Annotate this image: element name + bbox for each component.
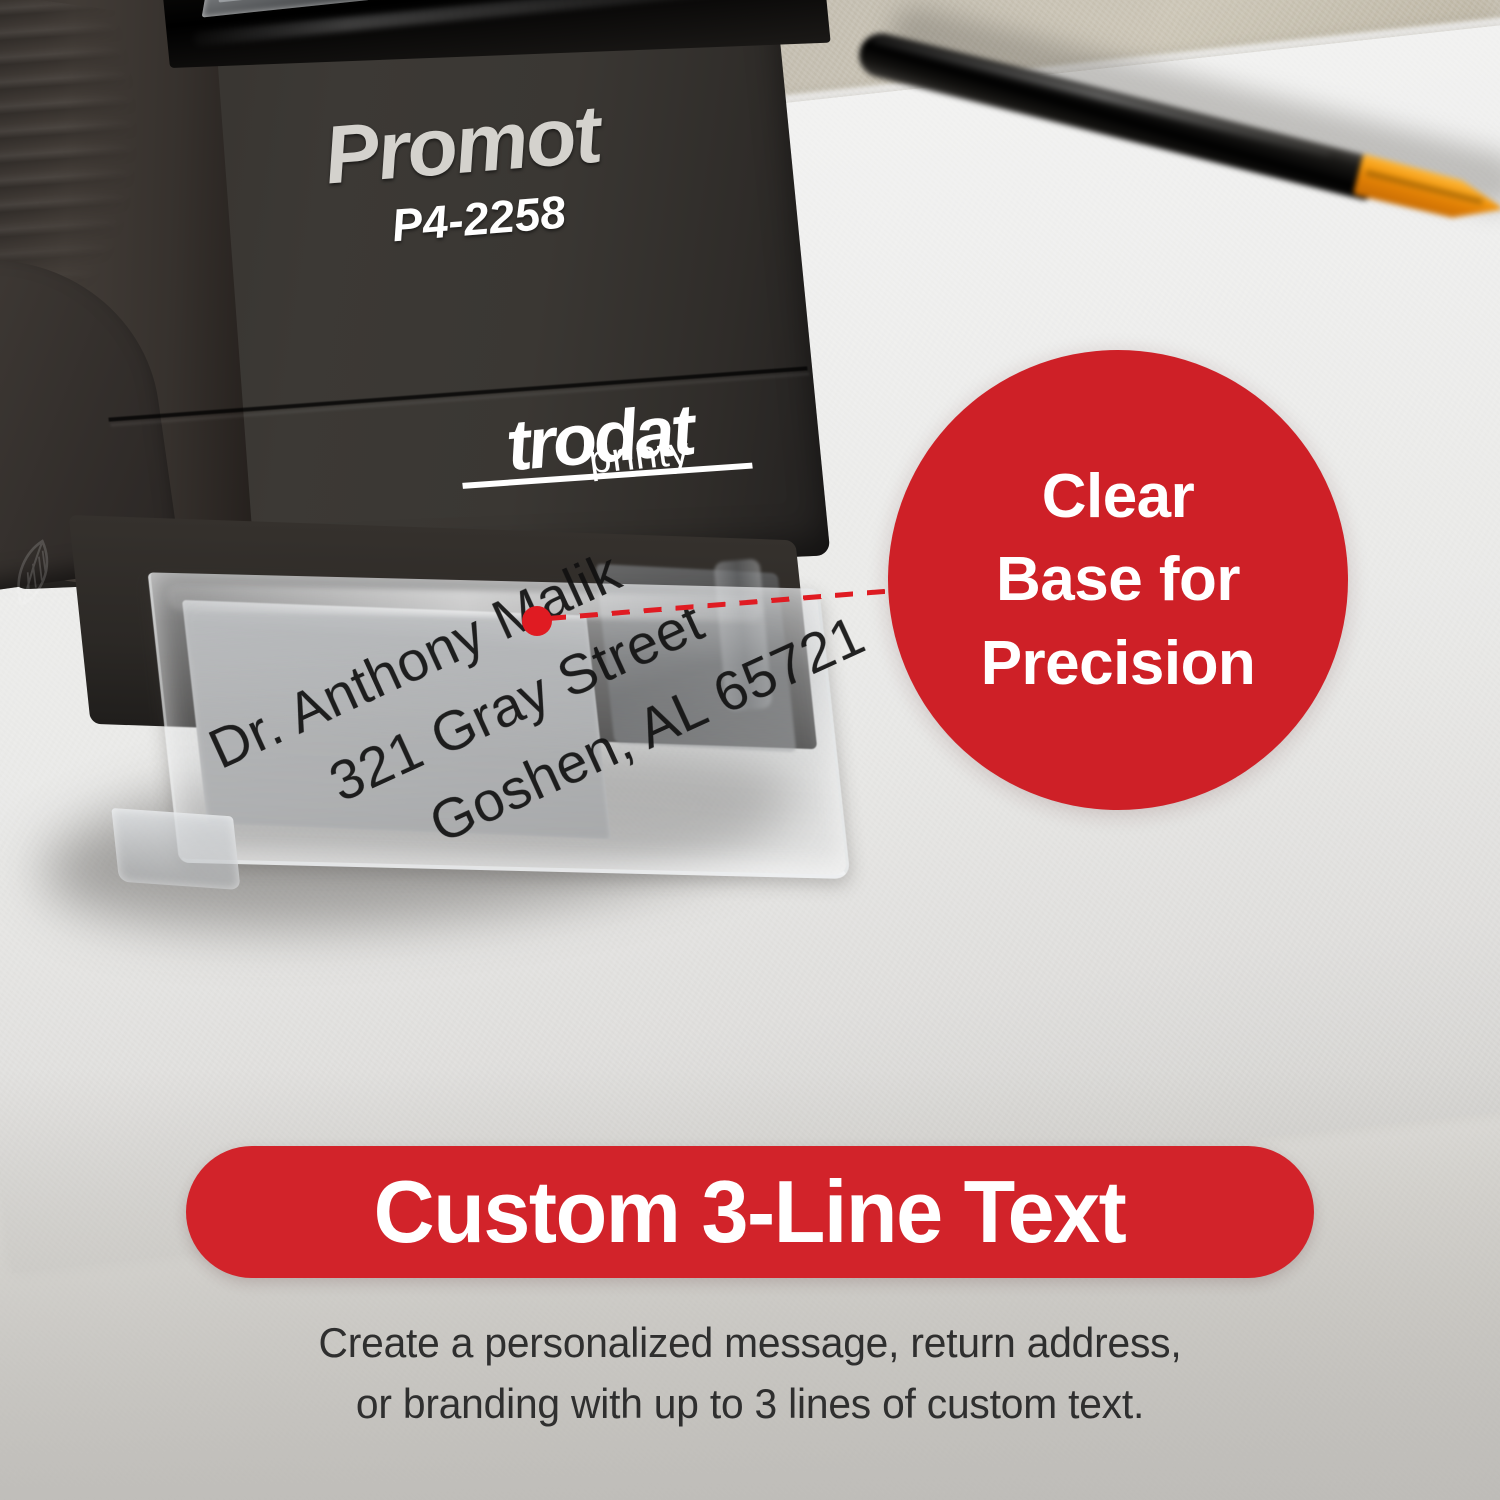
description-block: Create a personalized message, return ad…: [0, 1312, 1500, 1435]
bottom-vignette: [0, 1070, 1500, 1500]
description-line-1: Create a personalized message, return ad…: [23, 1312, 1478, 1373]
callout-line-1: Clear: [1042, 455, 1195, 538]
brand-block: Promot P4-2258: [320, 98, 612, 257]
callout-line-2: Base for: [996, 538, 1240, 621]
brand-name: Promot: [320, 98, 604, 193]
product-marketing-image: ECO Promot P4-2258 trodat printy Dr. An: [0, 0, 1500, 1500]
description-line-2: or branding with up to 3 lines of custom…: [23, 1373, 1478, 1434]
callout-line-3: Precision: [981, 622, 1256, 705]
clear-base-foot: [111, 808, 240, 890]
headline-text: Custom 3-Line Text: [374, 1168, 1126, 1256]
headline-banner: Custom 3-Line Text: [186, 1146, 1314, 1278]
feature-callout-badge: Clear Base for Precision: [888, 350, 1348, 810]
callout-dot-icon: [522, 606, 552, 636]
